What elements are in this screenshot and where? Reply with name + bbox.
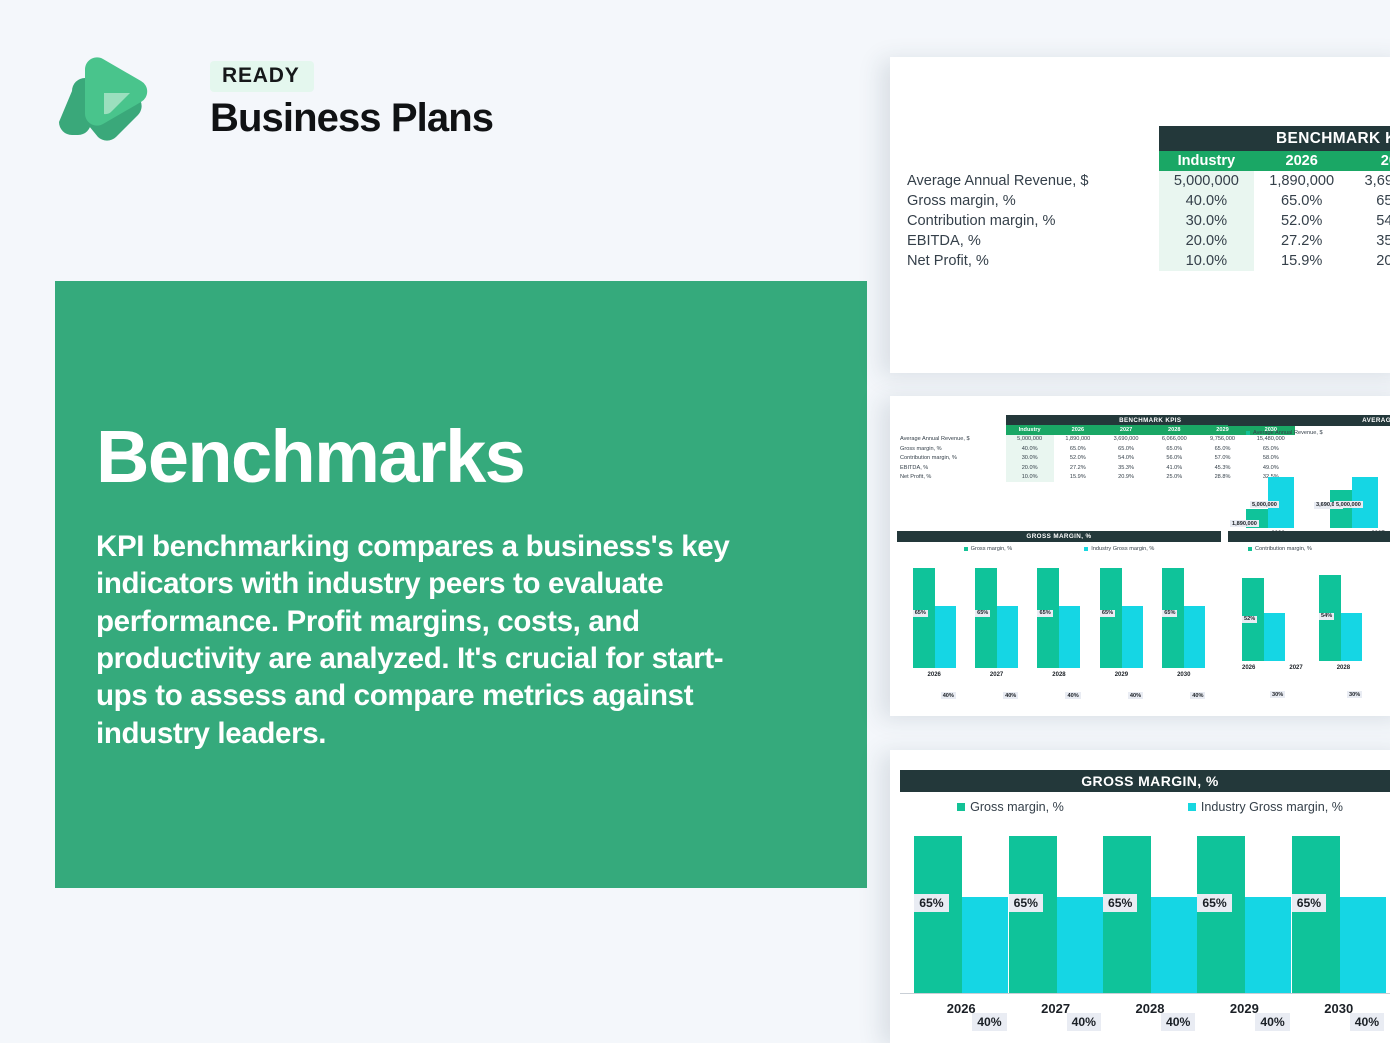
page-title: Benchmarks (96, 420, 524, 494)
bar-industry: 40% (1059, 606, 1080, 668)
bar-group: 3,690,0005,000,000 (1312, 477, 1390, 528)
legend-item-primary: Gross margin, % (957, 800, 1064, 814)
table-cell: 65.0% (1150, 444, 1198, 454)
table-corner (897, 425, 1006, 435)
table-cell: 52.0% (1054, 454, 1102, 464)
brand-name: Business Plans (210, 96, 493, 141)
column-header: 2026 (1054, 425, 1102, 435)
column-header: 2028 (1150, 425, 1198, 435)
axis-tick-label: 2026 (928, 672, 941, 678)
bar-value-label: 30% (1270, 691, 1285, 698)
bar-primary: 65% (1103, 836, 1151, 994)
legend-item-industry: Industry Gross margin, % (1084, 546, 1154, 552)
table-cell: 3,690,000 (1102, 435, 1150, 445)
table-row: Contribution margin, %30.0%52.0%54.0%56.… (900, 211, 1390, 231)
bar-value-label: 65% (1009, 894, 1043, 912)
legend-item-industry: Industry Gross margin, % (1188, 800, 1343, 814)
axis-tick-label: 2028 (1052, 672, 1065, 678)
bar-value-label: 65% (975, 610, 990, 617)
bar-primary: 65% (1100, 568, 1122, 668)
bars-area: 65%40%65%40%65%40%65%40%65%40% (900, 822, 1390, 994)
row-label: EBITDA, % (900, 231, 1159, 251)
table-body-top: BENCHMARK KPISIndustry202620272028Averag… (900, 126, 1390, 271)
bar-group: 65%40% (1009, 836, 1103, 994)
table-cell: 5,000,000 (1159, 171, 1254, 191)
bar-industry: 40% (997, 606, 1018, 668)
row-label: Average Annual Revenue, $ (900, 171, 1159, 191)
bar-primary: 65% (913, 568, 935, 668)
bar-industry: 40% (962, 897, 1008, 994)
preview-sheet-bottom[interactable]: GROSS MARGIN, % Gross margin, % Industry… (890, 750, 1390, 1043)
table-row: Gross margin, %40.0%65.0%65.0%65.0% (900, 191, 1390, 211)
table-title: BENCHMARK KPIS (1159, 126, 1390, 151)
table-cell: 1,890,000 (1054, 435, 1102, 445)
legend-item-primary: Contribution margin, % (1248, 546, 1312, 552)
row-label: Net Profit, % (897, 473, 1006, 483)
row-label: Gross margin, % (897, 444, 1006, 454)
table-cell: 35.3% (1102, 463, 1150, 473)
contribution-margin-chart: CONTRIBUTION MARGIN, % Contribution marg… (1228, 531, 1390, 691)
bar-value-label: 52% (1242, 616, 1257, 623)
chart-title: GROSS MARGIN, % (897, 531, 1221, 542)
table-cell: 30.0% (1006, 454, 1054, 464)
table-cell: 10.0% (1159, 251, 1254, 271)
gross-margin-chart-mid: GROSS MARGIN, % Gross margin, % Industry… (897, 531, 1221, 691)
bar-value-label: 65% (913, 610, 928, 617)
bar-value-label: 5,000,000 (1334, 501, 1363, 508)
chart-title: CONTRIBUTION MARGIN, % (1228, 531, 1390, 542)
hero-description: KPI benchmarking compares a business's k… (96, 528, 772, 752)
table-cell: 65.0% (1054, 444, 1102, 454)
table-cell: 65.0% (1349, 191, 1390, 211)
bar-value-label: 40% (941, 692, 956, 699)
chart-title: GROSS MARGIN, % (900, 770, 1390, 792)
bars-area: 52%30%54%30%56%30% (1228, 561, 1390, 661)
legend-item-primary: Gross margin, % (964, 546, 1013, 552)
row-label: Average Annual Revenue, $ (897, 435, 1006, 445)
bar-value-label: 40% (1255, 1013, 1289, 1031)
bar-group: 52%30% (1242, 578, 1285, 661)
bar-industry: 30% (1264, 613, 1285, 661)
axis-tick-label: 2026 (1242, 665, 1255, 671)
table-cell: 52.0% (1254, 211, 1349, 231)
bar-group: 65%40% (1103, 836, 1197, 994)
chart-legend: Gross margin, % Industry Gross margin, % (897, 542, 1221, 555)
bar-value-label: 65% (1037, 610, 1052, 617)
row-label: Net Profit, % (900, 251, 1159, 271)
table-cell: 20.0% (1006, 463, 1054, 473)
table-cell: 65.0% (1102, 444, 1150, 454)
bar-industry: 40% (1057, 897, 1103, 994)
table-cell: 15.9% (1054, 473, 1102, 483)
bar-group: 65%40% (975, 568, 1018, 668)
table-cell: 20.9% (1102, 473, 1150, 483)
table-corner (900, 151, 1159, 171)
brand-wordmark: READY Business Plans (210, 61, 493, 141)
bar-primary: 65% (975, 568, 997, 668)
table-spacer (900, 126, 1159, 151)
table-cell: 27.2% (1254, 231, 1349, 251)
bar-value-label: 40% (972, 1013, 1006, 1031)
bar-value-label: 40% (1003, 692, 1018, 699)
bar-value-label: 40% (1065, 692, 1080, 699)
table-cell: 40.0% (1006, 444, 1054, 454)
bar-value-label: 54% (1319, 613, 1334, 620)
axis-tick-label: 2028 (1337, 665, 1350, 671)
bar-industry: 40% (935, 606, 956, 668)
legend-swatch-icon (1248, 547, 1252, 551)
table-cell: 25.0% (1150, 473, 1198, 483)
bar-value-label: 65% (914, 894, 948, 912)
row-label: Contribution margin, % (897, 454, 1006, 464)
table-cell: 54.0% (1349, 211, 1390, 231)
legend-swatch-icon (1084, 547, 1088, 551)
legend-swatch-icon (1188, 803, 1196, 811)
column-header: 2027 (1102, 425, 1150, 435)
play-triangle-logo-icon (58, 53, 150, 153)
bar-group: 65%40% (1100, 568, 1143, 668)
bar-value-label: 30% (1347, 691, 1362, 698)
axis-labels: 202620272028 (1228, 665, 1390, 671)
ready-badge: READY (210, 61, 314, 92)
axis-tick-label: 2027 (990, 672, 1003, 678)
revenue-bars: 1,890,0005,000,0003,690,0005,000,0006,06… (1228, 453, 1390, 528)
bar-primary: 65% (1197, 836, 1245, 994)
table-cell: 20.9% (1349, 251, 1390, 271)
column-header: Industry (1006, 425, 1054, 435)
legend-swatch-icon (964, 547, 968, 551)
bar-value-label: 65% (1197, 894, 1231, 912)
column-header: Industry (1159, 151, 1254, 171)
chart-legend: Contribution margin, % (1228, 542, 1390, 555)
table-cell: 54.0% (1102, 454, 1150, 464)
bar-value-label: 40% (1350, 1013, 1384, 1031)
bar-primary: 52% (1242, 578, 1264, 661)
table-spacer (897, 415, 1006, 425)
bar-value-label: 40% (1161, 1013, 1195, 1031)
bar-industry: 40% (1151, 897, 1197, 994)
bar-group: 65%40% (914, 836, 1008, 994)
slide-canvas: READY Business Plans Benchmarks KPI benc… (0, 0, 1390, 1043)
table-cell: 30.0% (1159, 211, 1254, 231)
table-row: Average Annual Revenue, $5,000,0001,890,… (900, 171, 1390, 191)
bar-industry: 40% (1184, 606, 1205, 668)
table-cell: 35.3% (1349, 231, 1390, 251)
bar-industry: 40% (1122, 606, 1143, 668)
preview-sheet-middle[interactable]: BENCHMARK KPISIndustry202620272028202920… (890, 396, 1390, 716)
table-cell: 27.2% (1054, 463, 1102, 473)
column-header: 2026 (1254, 151, 1349, 171)
bar-value-label: 65% (1100, 610, 1115, 617)
table-cell: 6,066,000 (1150, 435, 1198, 445)
bar-value-label: 40% (1128, 692, 1143, 699)
bar-primary: 65% (1162, 568, 1184, 668)
chart-legend: Average Annual Revenue, $ (1228, 426, 1390, 439)
axis-line (900, 993, 1390, 994)
legend-swatch-icon (1246, 431, 1250, 435)
bar-value-label: 65% (1292, 894, 1326, 912)
table-cell: 56.0% (1150, 454, 1198, 464)
table-cell: 5,000,000 (1006, 435, 1054, 445)
bar-value-label: 40% (1067, 1013, 1101, 1031)
bar-group: 54%30% (1319, 575, 1362, 661)
bar-value-label: 65% (1103, 894, 1137, 912)
table-row: EBITDA, %20.0%27.2%35.3%41.0% (900, 231, 1390, 251)
table-cell: 3,690,000 (1349, 171, 1390, 191)
legend-swatch-icon (957, 803, 965, 811)
table-cell: 65.0% (1254, 191, 1349, 211)
legend-item-primary: Average Annual Revenue, $ (1246, 430, 1323, 436)
gross-margin-chart-bottom: GROSS MARGIN, % Gross margin, % Industry… (900, 770, 1390, 1032)
bar-group: 1,890,0005,000,000 (1228, 477, 1312, 528)
bar-industry: 40% (1340, 897, 1386, 994)
hero-panel: Benchmarks KPI benchmarking compares a b… (55, 281, 867, 888)
bar-primary: 65% (1009, 836, 1057, 994)
bars-area: 65%40%65%40%65%40%65%40%65%40% (897, 558, 1221, 668)
bar-group: 65%40% (1197, 836, 1291, 994)
preview-sheet-top[interactable]: BENCHMARK KPISIndustry202620272028Averag… (890, 57, 1390, 373)
row-label: EBITDA, % (897, 463, 1006, 473)
axis-tick-label: 2030 (1177, 672, 1190, 678)
bar-primary: 65% (1037, 568, 1059, 668)
bar-group: 65%40% (1037, 568, 1080, 668)
bar-value-label: 1,890,000 (1230, 520, 1259, 527)
table-cell: 15.9% (1254, 251, 1349, 271)
row-label: Gross margin, % (900, 191, 1159, 211)
table-cell: 1,890,000 (1254, 171, 1349, 191)
average-annual-revenue-chart: AVERAGE ANNUAL REVENUE, $ Average Annual… (1228, 415, 1390, 527)
bar-industry: 30% (1341, 613, 1362, 661)
brand-logo[interactable]: READY Business Plans (58, 53, 478, 161)
bar-group: 65%40% (913, 568, 956, 668)
chart-title: AVERAGE ANNUAL REVENUE, $ (1228, 415, 1390, 426)
bar-group: 65%40% (1292, 836, 1386, 994)
chart-legend: Gross margin, % Industry Gross margin, % (900, 792, 1390, 822)
table-cell: 10.0% (1006, 473, 1054, 483)
table-cell: 20.0% (1159, 231, 1254, 251)
row-label: Contribution margin, % (900, 211, 1159, 231)
bar-value-label: 65% (1162, 610, 1177, 617)
table-row: Net Profit, %10.0%15.9%20.9%25.0% (900, 251, 1390, 271)
axis-tick-label: 2027 (1289, 665, 1302, 671)
bar-group: 65%40% (1162, 568, 1205, 668)
axis-labels: 20262027202820292030 (897, 672, 1221, 678)
bar-value-label: 40% (1190, 692, 1205, 699)
axis-tick-label: 2029 (1115, 672, 1128, 678)
bar-primary: 54% (1319, 575, 1341, 661)
table-cell: 40.0% (1159, 191, 1254, 211)
bar-primary: 65% (914, 836, 962, 994)
bar-value-label: 5,000,000 (1250, 501, 1279, 508)
column-header: 2027 (1349, 151, 1390, 171)
benchmark-kpis-table: BENCHMARK KPISIndustry202620272028Averag… (900, 126, 1390, 271)
bar-primary: 65% (1292, 836, 1340, 994)
bar-industry: 40% (1245, 897, 1291, 994)
table-cell: 41.0% (1150, 463, 1198, 473)
